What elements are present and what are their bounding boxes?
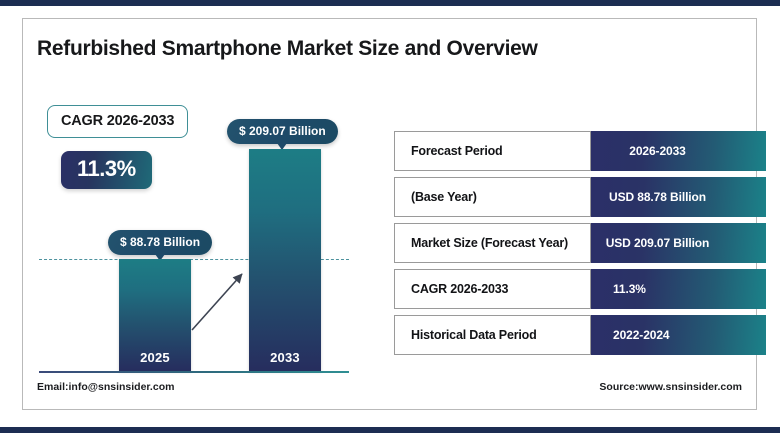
bar-value-label-2033: $ 209.07 Billion [227, 119, 338, 144]
chart-axis-line [39, 371, 349, 373]
table-row: Forecast Period 2026-2033 [394, 131, 766, 171]
footer-email: Email:info@snsinsider.com [37, 381, 174, 393]
table-cell-label: Historical Data Period [394, 315, 591, 355]
bar-2025: 2025 [119, 259, 191, 371]
table-row: (Base Year) USD 88.78 Billion [394, 177, 766, 217]
table-cell-value: 11.3% [591, 269, 766, 309]
table-row: CAGR 2026-2033 11.3% [394, 269, 766, 309]
cagr-value-badge: 11.3% [61, 151, 152, 189]
table-cell-value: 2022-2024 [591, 315, 766, 355]
table-row: Market Size (Forecast Year) USD 209.07 B… [394, 223, 766, 263]
bar-value-label-2025: $ 88.78 Billion [108, 230, 212, 255]
table-cell-value: 2026-2033 [591, 131, 766, 171]
table-cell-label: CAGR 2026-2033 [394, 269, 591, 309]
bar-year-label-2025: 2025 [119, 350, 191, 365]
table-cell-label: Market Size (Forecast Year) [394, 223, 591, 263]
table-cell-label: Forecast Period [394, 131, 591, 171]
footer-source: Source:www.snsinsider.com [599, 381, 742, 393]
page-title: Refurbished Smartphone Market Size and O… [37, 37, 538, 61]
bar-chart: CAGR 2026-2033 11.3% $ 88.78 Billion $ 2… [31, 79, 361, 369]
bar-year-label-2033: 2033 [249, 350, 321, 365]
cagr-period-badge: CAGR 2026-2033 [47, 105, 188, 138]
content-card: Refurbished Smartphone Market Size and O… [22, 18, 757, 410]
table-cell-value: USD 88.78 Billion [591, 177, 766, 217]
table-cell-label: (Base Year) [394, 177, 591, 217]
infographic-page: Refurbished Smartphone Market Size and O… [0, 0, 780, 433]
market-summary-table: Forecast Period 2026-2033 (Base Year) US… [394, 131, 766, 361]
footer: Email:info@snsinsider.com Source:www.sns… [23, 381, 756, 397]
table-cell-value: USD 209.07 Billion [591, 223, 766, 263]
table-row: Historical Data Period 2022-2024 [394, 315, 766, 355]
bar-2033: 2033 [249, 149, 321, 371]
bottom-accent-strip [0, 427, 780, 433]
top-accent-strip [0, 0, 780, 6]
growth-arrow-icon [186, 264, 256, 336]
